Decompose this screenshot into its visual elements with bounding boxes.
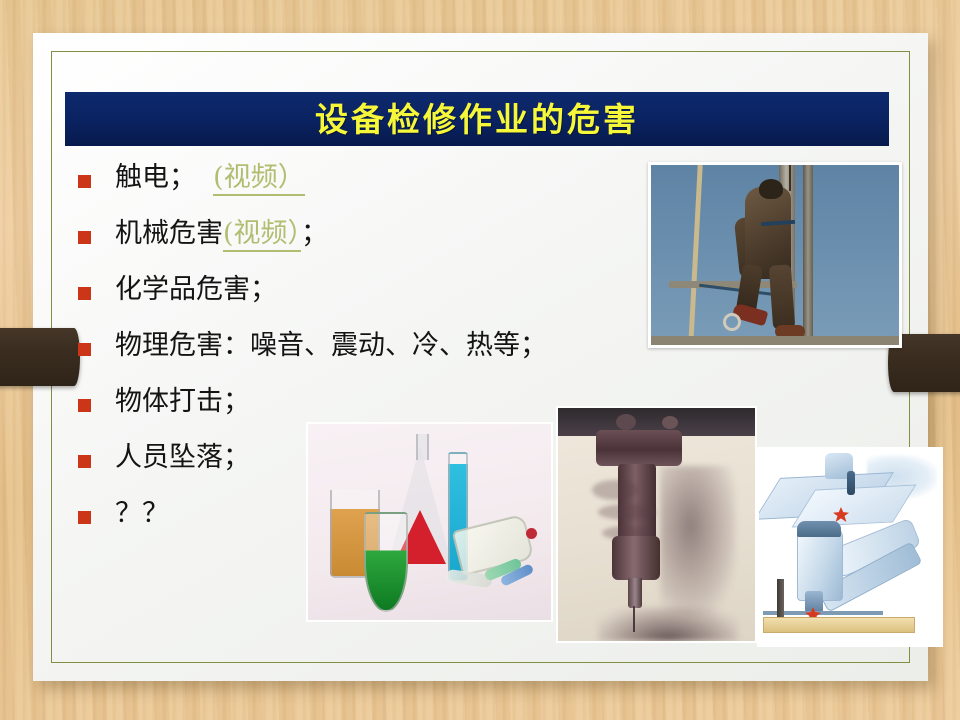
entangled-fiber-wisp xyxy=(598,504,656,520)
video-link-mechanical[interactable]: (视频） xyxy=(223,218,301,252)
square-bullet-icon xyxy=(78,343,91,356)
video-link-electric-shock[interactable]: (视频） xyxy=(213,162,305,196)
rotating-spindle-drill-photo xyxy=(556,406,757,643)
square-bullet-icon xyxy=(78,511,91,524)
bullet-text-electric-shock: 触电； (视频） xyxy=(115,160,305,196)
nail-gun-cap xyxy=(797,521,841,537)
bullet-suffix-mechanical: ； xyxy=(301,218,328,249)
wood-board xyxy=(763,617,915,633)
nail-gun-body xyxy=(797,527,843,601)
machine-bolt-a xyxy=(616,414,636,430)
bullet-item-chemical: 化学品危害； xyxy=(78,272,638,328)
drill-chuck xyxy=(612,536,660,580)
press-ram-arm xyxy=(847,471,855,495)
slide-title-bar: 设备检修作业的危害 xyxy=(65,92,889,146)
guide-post xyxy=(777,579,784,619)
drill-bit xyxy=(628,578,642,608)
bullet-label-chemical: 化学品危害； xyxy=(115,272,277,308)
slide-title: 设备检修作业的危害 xyxy=(315,103,639,136)
bullet-text-mechanical: 机械危害(视频）； xyxy=(115,216,328,252)
bullet-item-electric-shock: 触电； (视频） xyxy=(78,160,638,216)
square-bullet-icon xyxy=(78,231,91,244)
flask-green-liquid xyxy=(364,512,408,612)
square-bullet-icon xyxy=(78,175,91,188)
carabiner-hook-icon xyxy=(723,313,741,331)
square-bullet-icon xyxy=(78,455,91,468)
motion-blur-shadow xyxy=(660,466,736,616)
bullet-label-electric-shock: 触电； xyxy=(115,162,196,193)
floor-shadow xyxy=(598,607,738,641)
bullet-item-mechanical: 机械危害(视频）； xyxy=(78,216,638,272)
bullet-label-physical: 物理危害：噪音、震动、冷、热等； xyxy=(115,328,547,364)
square-bullet-icon xyxy=(78,399,91,412)
square-bullet-icon xyxy=(78,287,91,300)
bullet-label-fall: 人员坠落； xyxy=(115,440,250,476)
decorative-ribbon-left xyxy=(0,328,80,386)
flask-neck xyxy=(416,434,429,460)
laboratory-glassware-photo xyxy=(306,422,553,622)
ground-strip xyxy=(651,336,899,345)
machine-bolt-b xyxy=(662,416,678,429)
bullet-item-physical: 物理危害：噪音、震动、冷、热等； xyxy=(78,328,638,384)
worker-suspended-on-mast-photo xyxy=(648,162,902,348)
bullet-label-object-strike: 物体打击； xyxy=(115,384,250,420)
worker-leg-right xyxy=(769,264,795,329)
worker-helmet xyxy=(759,179,783,199)
bullet-label-mechanical: 机械危害 xyxy=(115,218,223,249)
red-stopper-icon xyxy=(526,528,537,539)
spindle-collar xyxy=(596,430,682,466)
bullet-label-unknown: ？？ xyxy=(115,496,169,532)
entangled-fiber-wisp xyxy=(592,480,638,500)
lifeline-rope xyxy=(789,165,791,191)
slide-background: 设备检修作业的危害 触电； (视频） 机械危害(视频）； 化学品危害； 物理危害… xyxy=(0,0,960,720)
mast-column-secondary xyxy=(803,165,813,345)
nail-gun-press-illustration xyxy=(757,447,943,647)
